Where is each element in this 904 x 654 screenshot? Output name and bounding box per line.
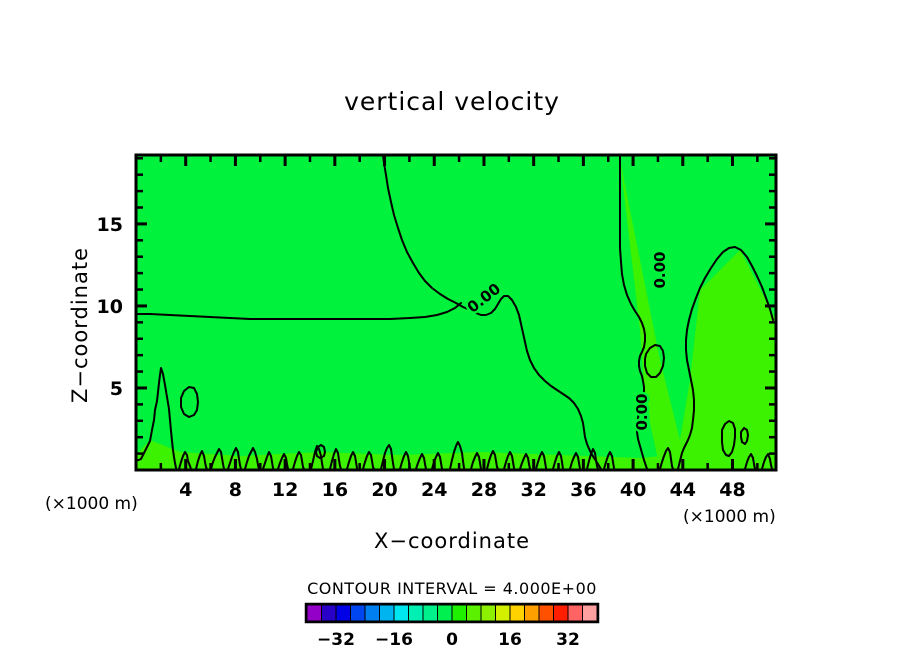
colorbar-tick-label: −32 bbox=[317, 630, 355, 650]
colorbar-swatch bbox=[423, 605, 438, 621]
colorbar-caption: CONTOUR INTERVAL = 4.000E+00 bbox=[307, 579, 597, 598]
colorbar-swatch bbox=[394, 605, 409, 621]
x-tick-label: 20 bbox=[371, 479, 397, 501]
colorbar-swatch bbox=[568, 605, 583, 621]
x-tick-label: 44 bbox=[670, 479, 696, 501]
y-axis-title: Z−coordinate bbox=[68, 247, 92, 403]
x-axis-unit-left: (×1000 m) bbox=[45, 494, 138, 514]
contour-level-label: 0.00 bbox=[633, 393, 651, 430]
colorbar-swatch bbox=[365, 605, 380, 621]
x-axis-unit-right: (×1000 m) bbox=[683, 507, 776, 527]
y-tick-label: 10 bbox=[97, 296, 123, 318]
contour-field-base bbox=[136, 155, 776, 470]
colorbar-swatch bbox=[583, 605, 598, 621]
colorbar-swatch bbox=[336, 605, 351, 621]
x-tick-label: 48 bbox=[719, 479, 745, 501]
colorbar-tick-label: 16 bbox=[498, 630, 522, 650]
colorbar-swatch bbox=[322, 605, 337, 621]
colorbar-swatch bbox=[481, 605, 496, 621]
x-tick-label: 24 bbox=[421, 479, 447, 501]
colorbar-swatch bbox=[525, 605, 540, 621]
colorbar-swatch bbox=[438, 605, 453, 621]
colorbar-swatch bbox=[452, 605, 467, 621]
contour-level-label: 0.00 bbox=[651, 251, 669, 288]
colorbar-swatches bbox=[307, 605, 597, 621]
colorbar-swatch bbox=[409, 605, 424, 621]
contour-figure: vertical velocity 0.000.000.00 481216202… bbox=[0, 0, 904, 654]
x-tick-label: 40 bbox=[620, 479, 646, 501]
colorbar-swatch bbox=[539, 605, 554, 621]
colorbar-swatch bbox=[351, 605, 366, 621]
colorbar-tick-label: −16 bbox=[375, 630, 413, 650]
colorbar-swatch bbox=[510, 605, 525, 621]
colorbar-swatch bbox=[307, 605, 322, 621]
x-tick-label: 36 bbox=[570, 479, 596, 501]
x-axis-title: X−coordinate bbox=[374, 529, 530, 553]
page-title: vertical velocity bbox=[344, 87, 560, 116]
y-tick-label: 5 bbox=[110, 378, 123, 400]
colorbar-swatch bbox=[467, 605, 482, 621]
colorbar-tick-label: 0 bbox=[446, 630, 458, 650]
x-tick-label: 8 bbox=[229, 479, 242, 501]
x-tick-label: 32 bbox=[520, 479, 546, 501]
colorbar-swatch bbox=[554, 605, 569, 621]
colorbar-tick-label: 32 bbox=[556, 630, 580, 650]
x-tick-label: 4 bbox=[179, 479, 192, 501]
plot-area: 0.000.000.00 bbox=[136, 155, 776, 470]
x-tick-label: 16 bbox=[322, 479, 348, 501]
y-tick-label: 15 bbox=[97, 214, 123, 236]
x-tick-label: 12 bbox=[272, 479, 298, 501]
x-tick-label: 28 bbox=[471, 479, 497, 501]
colorbar-swatch bbox=[380, 605, 395, 621]
colorbar-swatch bbox=[496, 605, 511, 621]
